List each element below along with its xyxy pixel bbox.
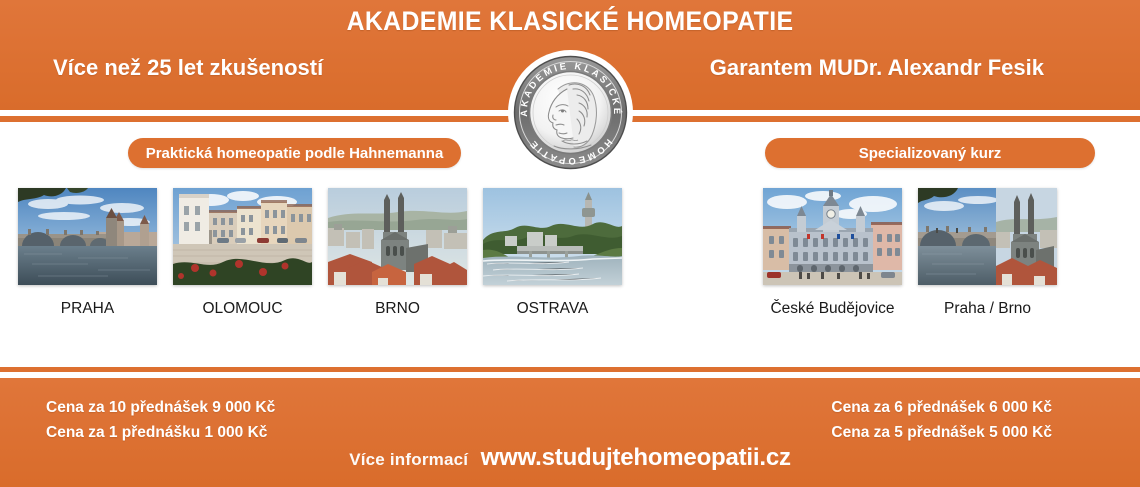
price-line: Cena za 10 přednášek 9 000 Kč bbox=[46, 395, 275, 420]
price-list-specialized: Cena za 6 přednášek 6 000 Kč Cena za 5 p… bbox=[831, 395, 1052, 445]
header-tagline-right: Garantem MUDr. Alexandr Fesik bbox=[710, 55, 1044, 81]
price-line: Cena za 5 přednášek 5 000 Kč bbox=[831, 420, 1052, 445]
course-pill-specialized[interactable]: Specializovaný kurz bbox=[765, 138, 1095, 168]
header-tagline-left: Více než 25 let zkušeností bbox=[53, 55, 323, 81]
city-caption-praha: PRAHA bbox=[61, 300, 114, 318]
city-card-praha-brno[interactable]: Praha / Brno bbox=[918, 188, 1057, 318]
course-pill-specialized-label: Specializovaný kurz bbox=[859, 145, 1002, 162]
city-caption-ostrava: OSTRAVA bbox=[517, 300, 589, 318]
charles-bridge-prague-photo bbox=[18, 188, 157, 285]
city-card-ceske-budejovice[interactable]: České Budějovice bbox=[763, 188, 902, 318]
city-card-praha[interactable]: PRAHA bbox=[18, 188, 157, 318]
city-caption-olomouc: OLOMOUC bbox=[202, 300, 282, 318]
city-card-olomouc[interactable]: OLOMOUC bbox=[173, 188, 312, 318]
ceske-budejovice-town-hall-photo bbox=[763, 188, 902, 285]
city-caption-brno: BRNO bbox=[375, 300, 420, 318]
course-pill-practical-label: Praktická homeopatie podle Hahnemanna bbox=[146, 145, 444, 162]
praha-brno-split-photo bbox=[918, 188, 1057, 285]
price-list-practical: Cena za 10 přednášek 9 000 Kč Cena za 1 … bbox=[46, 395, 275, 445]
city-group-practical: PRAHA bbox=[18, 188, 622, 318]
more-info-label: Více informací bbox=[349, 450, 468, 469]
city-group-specialized: České Budějovice bbox=[763, 188, 1057, 318]
price-line: Cena za 1 přednášku 1 000 Kč bbox=[46, 420, 275, 445]
homeopathy-academy-banner: AKADEMIE KLASICKÉ HOMEOPATIE Více než 25… bbox=[0, 0, 1140, 487]
course-pill-practical[interactable]: Praktická homeopatie podle Hahnemanna bbox=[128, 138, 461, 168]
price-line: Cena za 6 přednášek 6 000 Kč bbox=[831, 395, 1052, 420]
ostrava-river-tower-photo bbox=[483, 188, 622, 285]
city-caption-ceske-budejovice: České Budějovice bbox=[770, 300, 894, 318]
brno-cathedral-photo bbox=[328, 188, 467, 285]
academy-seal-logo: AKADEMIE KLASICKÉ HOMEOPATIE bbox=[507, 49, 634, 176]
city-card-ostrava[interactable]: OSTRAVA bbox=[483, 188, 622, 318]
more-info-line: Více informací www.studujtehomeopatii.cz bbox=[0, 444, 1140, 472]
olomouc-square-photo bbox=[173, 188, 312, 285]
website-link[interactable]: www.studujtehomeopatii.cz bbox=[481, 444, 791, 471]
banner-footer: Cena za 10 přednášek 9 000 Kč Cena za 1 … bbox=[0, 378, 1140, 487]
footer-divider-rule bbox=[0, 367, 1140, 372]
city-caption-praha-brno: Praha / Brno bbox=[944, 300, 1031, 318]
page-title: AKADEMIE KLASICKÉ HOMEOPATIE bbox=[46, 6, 1095, 37]
banner-body: AKADEMIE KLASICKÉ HOMEOPATIE bbox=[0, 122, 1140, 367]
city-card-brno[interactable]: BRNO bbox=[328, 188, 467, 318]
